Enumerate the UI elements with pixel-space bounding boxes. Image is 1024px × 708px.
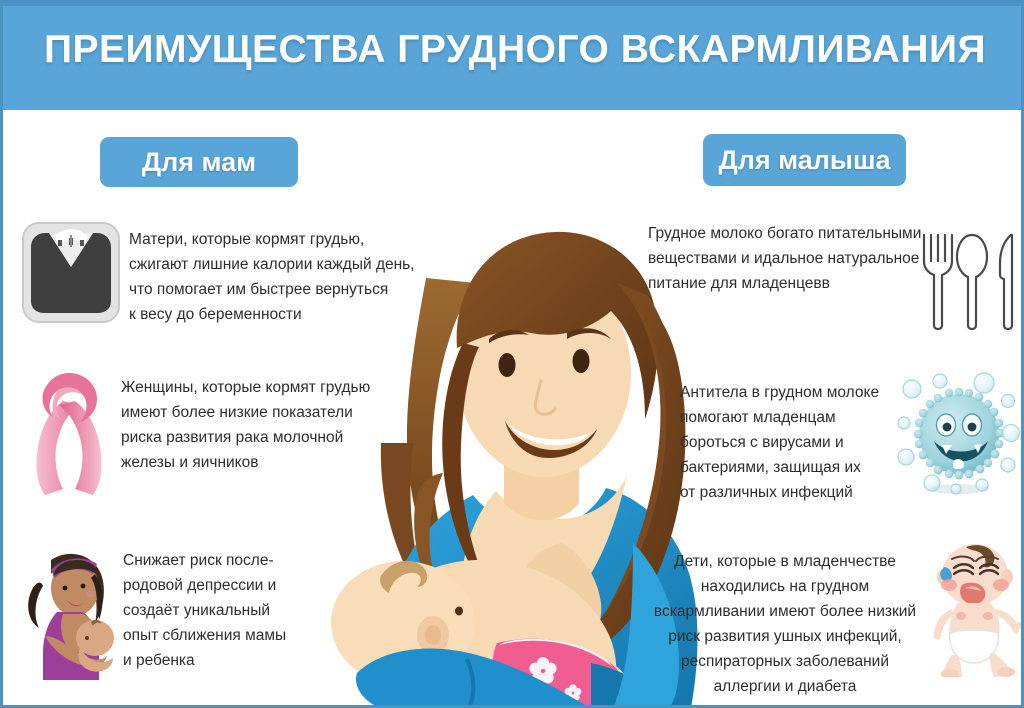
crying-baby-icon — [928, 541, 1023, 677]
page-title: ПРЕИМУЩЕСТВА ГРУДНОГО ВСКАРМЛИВАНИЯ — [3, 28, 1024, 72]
benefit-text-baby-antibodies: Антитела в грудном молоке помогают младе… — [680, 380, 930, 505]
benefit-text-baby-nutrition: Грудное молоко богато питательными вещес… — [648, 221, 948, 296]
benefit-text-mom-depression: Снижает риск после- родовой депрессии и … — [123, 548, 338, 673]
header-top-rule — [3, 3, 1024, 6]
section-badge-for-moms-label: Для мам — [142, 147, 256, 178]
pink-ribbon-icon — [23, 365, 115, 498]
bathroom-scale-icon — [21, 221, 121, 324]
benefit-text-mom-calories: Матери, которые кормят грудью, сжигают л… — [129, 227, 449, 327]
infographic-poster: ПРЕИМУЩЕСТВА ГРУДНОГО ВСКАРМЛИВАНИЯ Для … — [0, 0, 1024, 708]
mother-holding-baby-icon — [21, 540, 126, 680]
benefit-text-mom-cancer-risk: Женщины, которые кормят грудью имеют бол… — [121, 375, 451, 475]
benefit-text-baby-infections: Дети, которые в младенчестве находились … — [640, 549, 930, 699]
